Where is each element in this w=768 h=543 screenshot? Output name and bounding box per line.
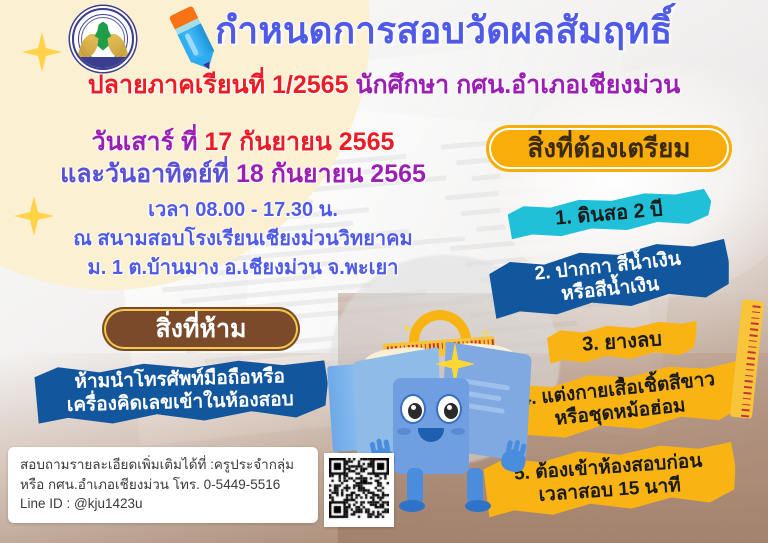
- exam-date-row-2: และวันอาทิตย์ที่ 18 กันยายน 2565: [18, 158, 468, 190]
- mascot-mouth: [418, 428, 444, 442]
- qr-code-icon[interactable]: [324, 453, 394, 527]
- prepare-heading-pill: สิ่งที่ต้องเตรียม: [486, 125, 732, 172]
- date2-value: 18 กันยายน 2565: [236, 160, 426, 188]
- exam-details-block: วันเสาร์ ที่ 17 กันยายน 2565 และวันอาทิต…: [18, 126, 468, 283]
- prepare-item-3-line1: 3. ยางลบ: [581, 327, 662, 357]
- exam-address: ม. 1 ต.บ้านมาง อ.เชียงม่วน จ.พะเยา: [18, 254, 468, 283]
- mascot-leg-left: [407, 468, 423, 504]
- qr-code-canvas: [329, 458, 389, 522]
- subtitle-term: ปลายภาคเรียนที่ 1/2565: [88, 71, 349, 99]
- exam-date-row-1: วันเสาร์ ที่ 17 กันยายน 2565: [18, 126, 468, 158]
- ministry-seal-icon: [72, 8, 134, 70]
- subtitle-audience: นักศึกษา กศน.อำเภอเชียงม่วน: [355, 71, 680, 99]
- seal-bottom-band: [74, 57, 132, 68]
- date2-prefix: และวันอาทิตย์ที่: [60, 160, 236, 188]
- mascot-eye-glint: [411, 405, 416, 410]
- poster-subtitle: ปลายภาคเรียนที่ 1/2565 นักศึกษา กศน.อำเภ…: [0, 72, 768, 100]
- forbid-heading-pill: สิ่งที่ห้าม: [102, 307, 300, 351]
- mascot-foot-right: [465, 500, 491, 512]
- mascot-leg-right: [467, 468, 483, 504]
- contact-footer: สอบถามรายละเอียดเพิ่มเติมได้ที่ :ครูประจ…: [8, 447, 318, 523]
- mascot-eye-right: [436, 394, 462, 424]
- date1-value: 17 กันยายน 2565: [204, 128, 394, 156]
- mascot-arm-right: [498, 447, 531, 479]
- contact-line-2: หรือ กศน.อำเภอเชียงม่วน โทร. 0-5449-5516: [20, 475, 308, 495]
- mascot-foot-left: [399, 500, 425, 512]
- mascot-eye-left: [400, 394, 426, 424]
- mascot-cheek-left: [397, 428, 411, 435]
- poster-title: กำหนดการสอบวัดผลสัมฤทธิ์: [215, 12, 760, 51]
- contact-line-3: Line ID : @kju1423u: [20, 494, 308, 514]
- poster-canvas: กำหนดการสอบวัดผลสัมฤทธิ์ ปลายภาคเรียนที่…: [0, 0, 768, 543]
- exam-venue: ณ สนามสอบโรงเรียนเชียงม่วนวิทยาคม: [18, 225, 468, 254]
- contact-line-1: สอบถามรายละเอียดเพิ่มเติมได้ที่ :ครูประจ…: [20, 455, 308, 475]
- date1-prefix: วันเสาร์ ที่: [92, 128, 205, 156]
- exam-time: เวลา 08.00 - 17.30 น.: [18, 196, 468, 225]
- mascot-face: [393, 378, 469, 474]
- mascot-eye-glint: [447, 405, 452, 410]
- mascot-cheek-right: [451, 428, 465, 435]
